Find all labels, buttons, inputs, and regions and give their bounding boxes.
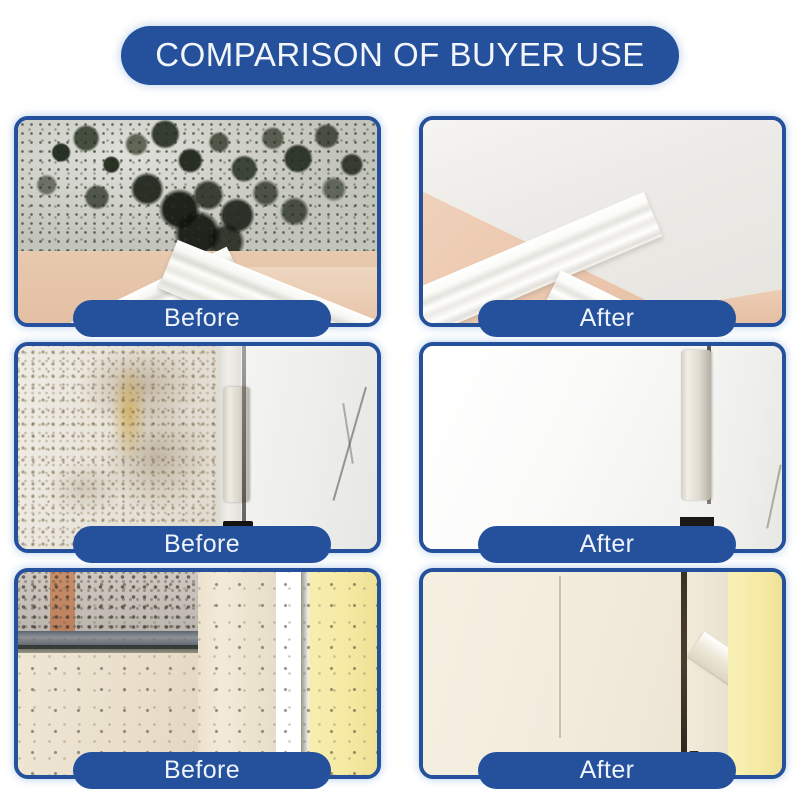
- before-photo-card-3[interactable]: Before: [14, 568, 381, 779]
- caption-after-2: After: [478, 526, 736, 563]
- after-photo-3: [423, 572, 782, 775]
- comparison-row-3: Before After: [0, 562, 800, 788]
- after-photo-2: [423, 346, 782, 549]
- caption-before-3: Before: [73, 752, 331, 789]
- caption-after-3: After: [478, 752, 736, 789]
- caption-before-2: Before: [73, 526, 331, 563]
- door-frame: [241, 346, 377, 549]
- before-photo-2: [18, 346, 377, 549]
- page-title: COMPARISON OF BUYER USE: [121, 26, 678, 85]
- before-photo-3: [18, 572, 377, 775]
- dirt-speckle-texture: [18, 572, 377, 775]
- yellow-wall-trim: [728, 572, 782, 775]
- mildew-speckle-texture: [18, 346, 241, 549]
- after-photo-card-1[interactable]: After: [419, 116, 786, 327]
- before-photo-card-2[interactable]: Before: [14, 342, 381, 553]
- caption-before-1: Before: [73, 300, 331, 337]
- door-gap-shadow: [681, 572, 687, 775]
- comparison-row-2: Before After: [0, 336, 800, 562]
- after-photo-1: [423, 120, 782, 323]
- panel-seam: [559, 576, 561, 738]
- after-photo-card-3[interactable]: After: [419, 568, 786, 779]
- comparison-row-1: Before After: [0, 110, 800, 336]
- door-hinge: [681, 350, 711, 500]
- comparison-grid: Before After: [0, 110, 800, 800]
- clean-wall: [423, 346, 681, 549]
- clean-door-panel: [423, 572, 681, 775]
- page-header: COMPARISON OF BUYER USE: [0, 0, 800, 110]
- after-photo-card-2[interactable]: After: [419, 342, 786, 553]
- caption-after-1: After: [478, 300, 736, 337]
- before-photo-1: [18, 120, 377, 323]
- door-gap-shadow: [242, 346, 246, 549]
- before-photo-card-1[interactable]: Before: [14, 116, 381, 327]
